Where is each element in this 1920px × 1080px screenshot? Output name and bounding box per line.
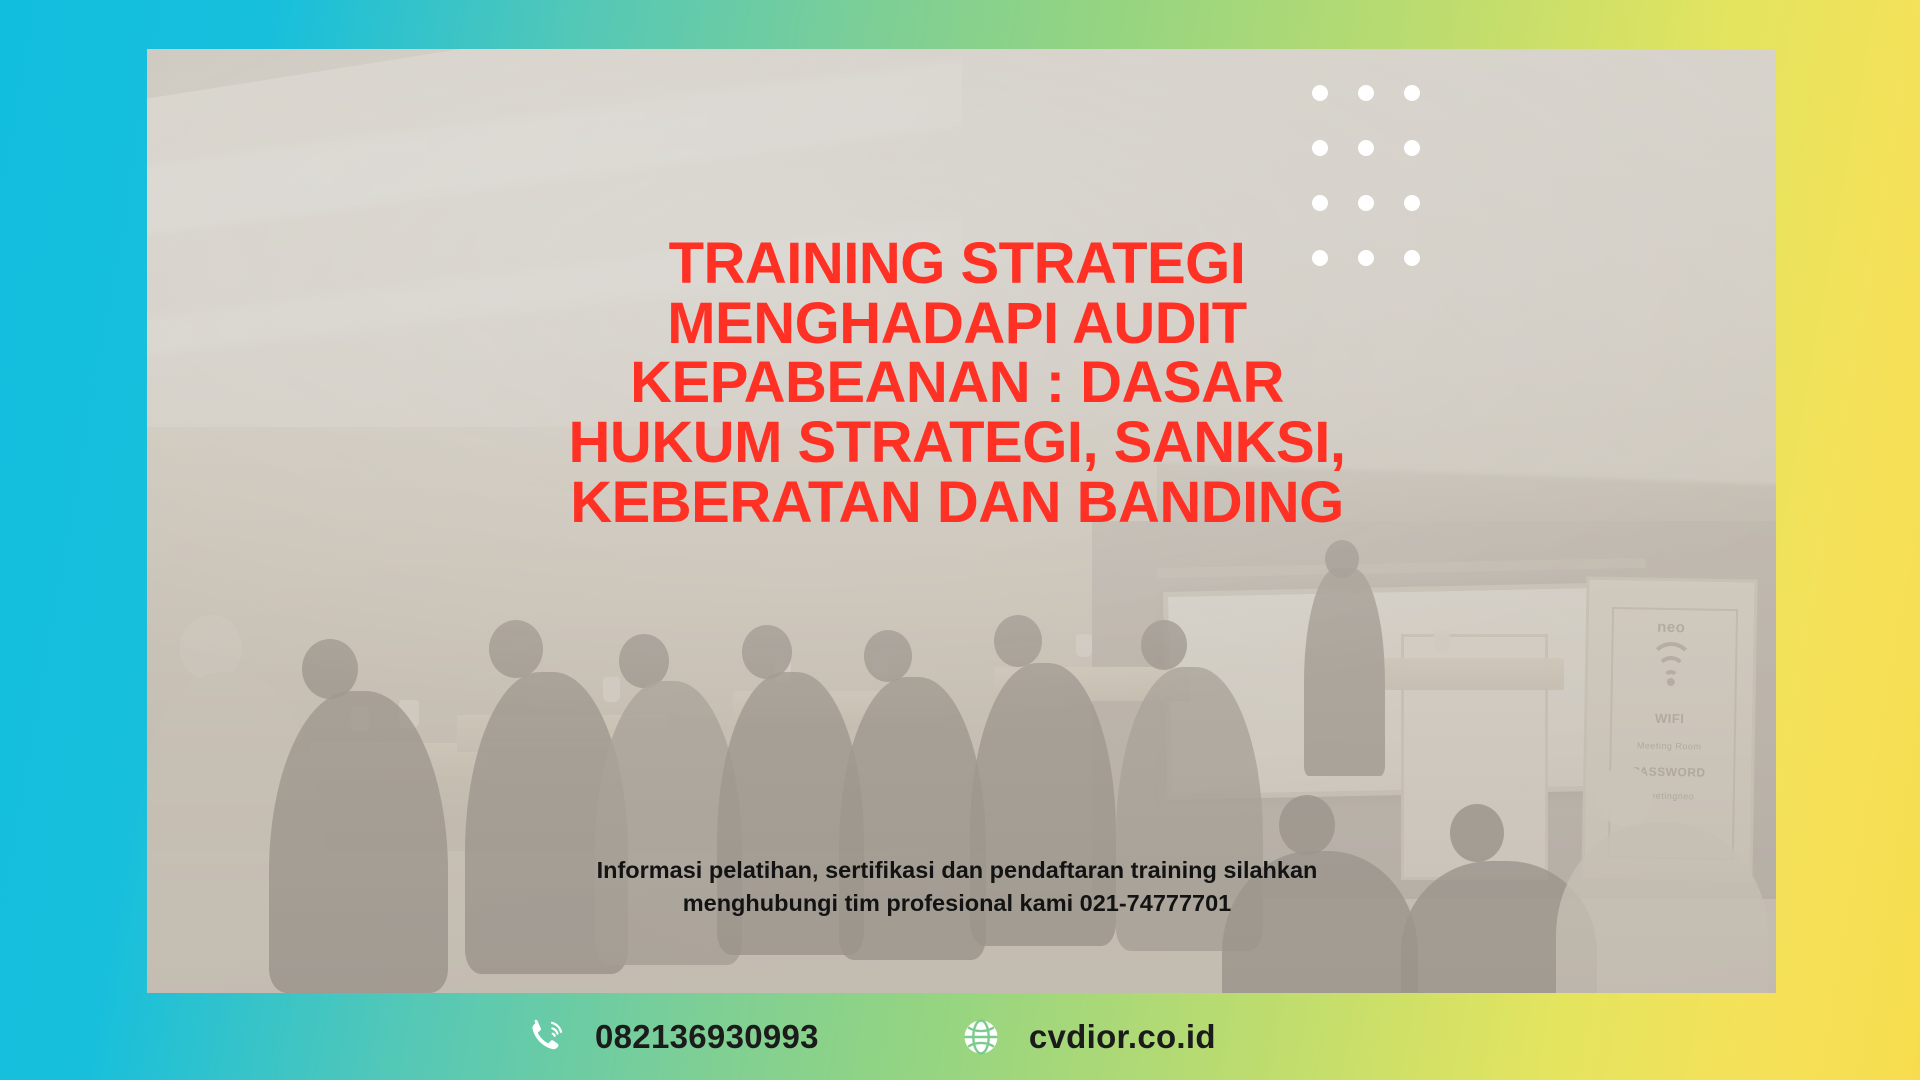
dot [1312, 140, 1328, 156]
dot [1358, 140, 1374, 156]
dot [1312, 195, 1328, 211]
dot [1404, 195, 1420, 211]
phone-number: 082136930993 [595, 1018, 819, 1056]
dot [1404, 140, 1420, 156]
contact-bar: 082136930993 cvdior.co.id [0, 993, 1920, 1080]
dot [1404, 250, 1420, 266]
dot [1358, 85, 1374, 101]
dot [1312, 85, 1328, 101]
phone-icon [525, 1015, 569, 1059]
poster-subtext: Informasi pelatihan, sertifikasi dan pen… [527, 854, 1387, 921]
contact-phone[interactable]: 082136930993 [525, 1015, 819, 1059]
seminar-photo: neo WIFI Meeting Room PASSWORD meetingne… [147, 49, 1776, 993]
globe-icon [959, 1015, 1003, 1059]
dot [1404, 85, 1420, 101]
contact-website[interactable]: cvdior.co.id [959, 1015, 1216, 1059]
website-url: cvdior.co.id [1029, 1018, 1216, 1056]
dot [1358, 195, 1374, 211]
page-title: TRAINING STRATEGI MENGHADAPI AUDIT KEPAB… [527, 234, 1387, 533]
